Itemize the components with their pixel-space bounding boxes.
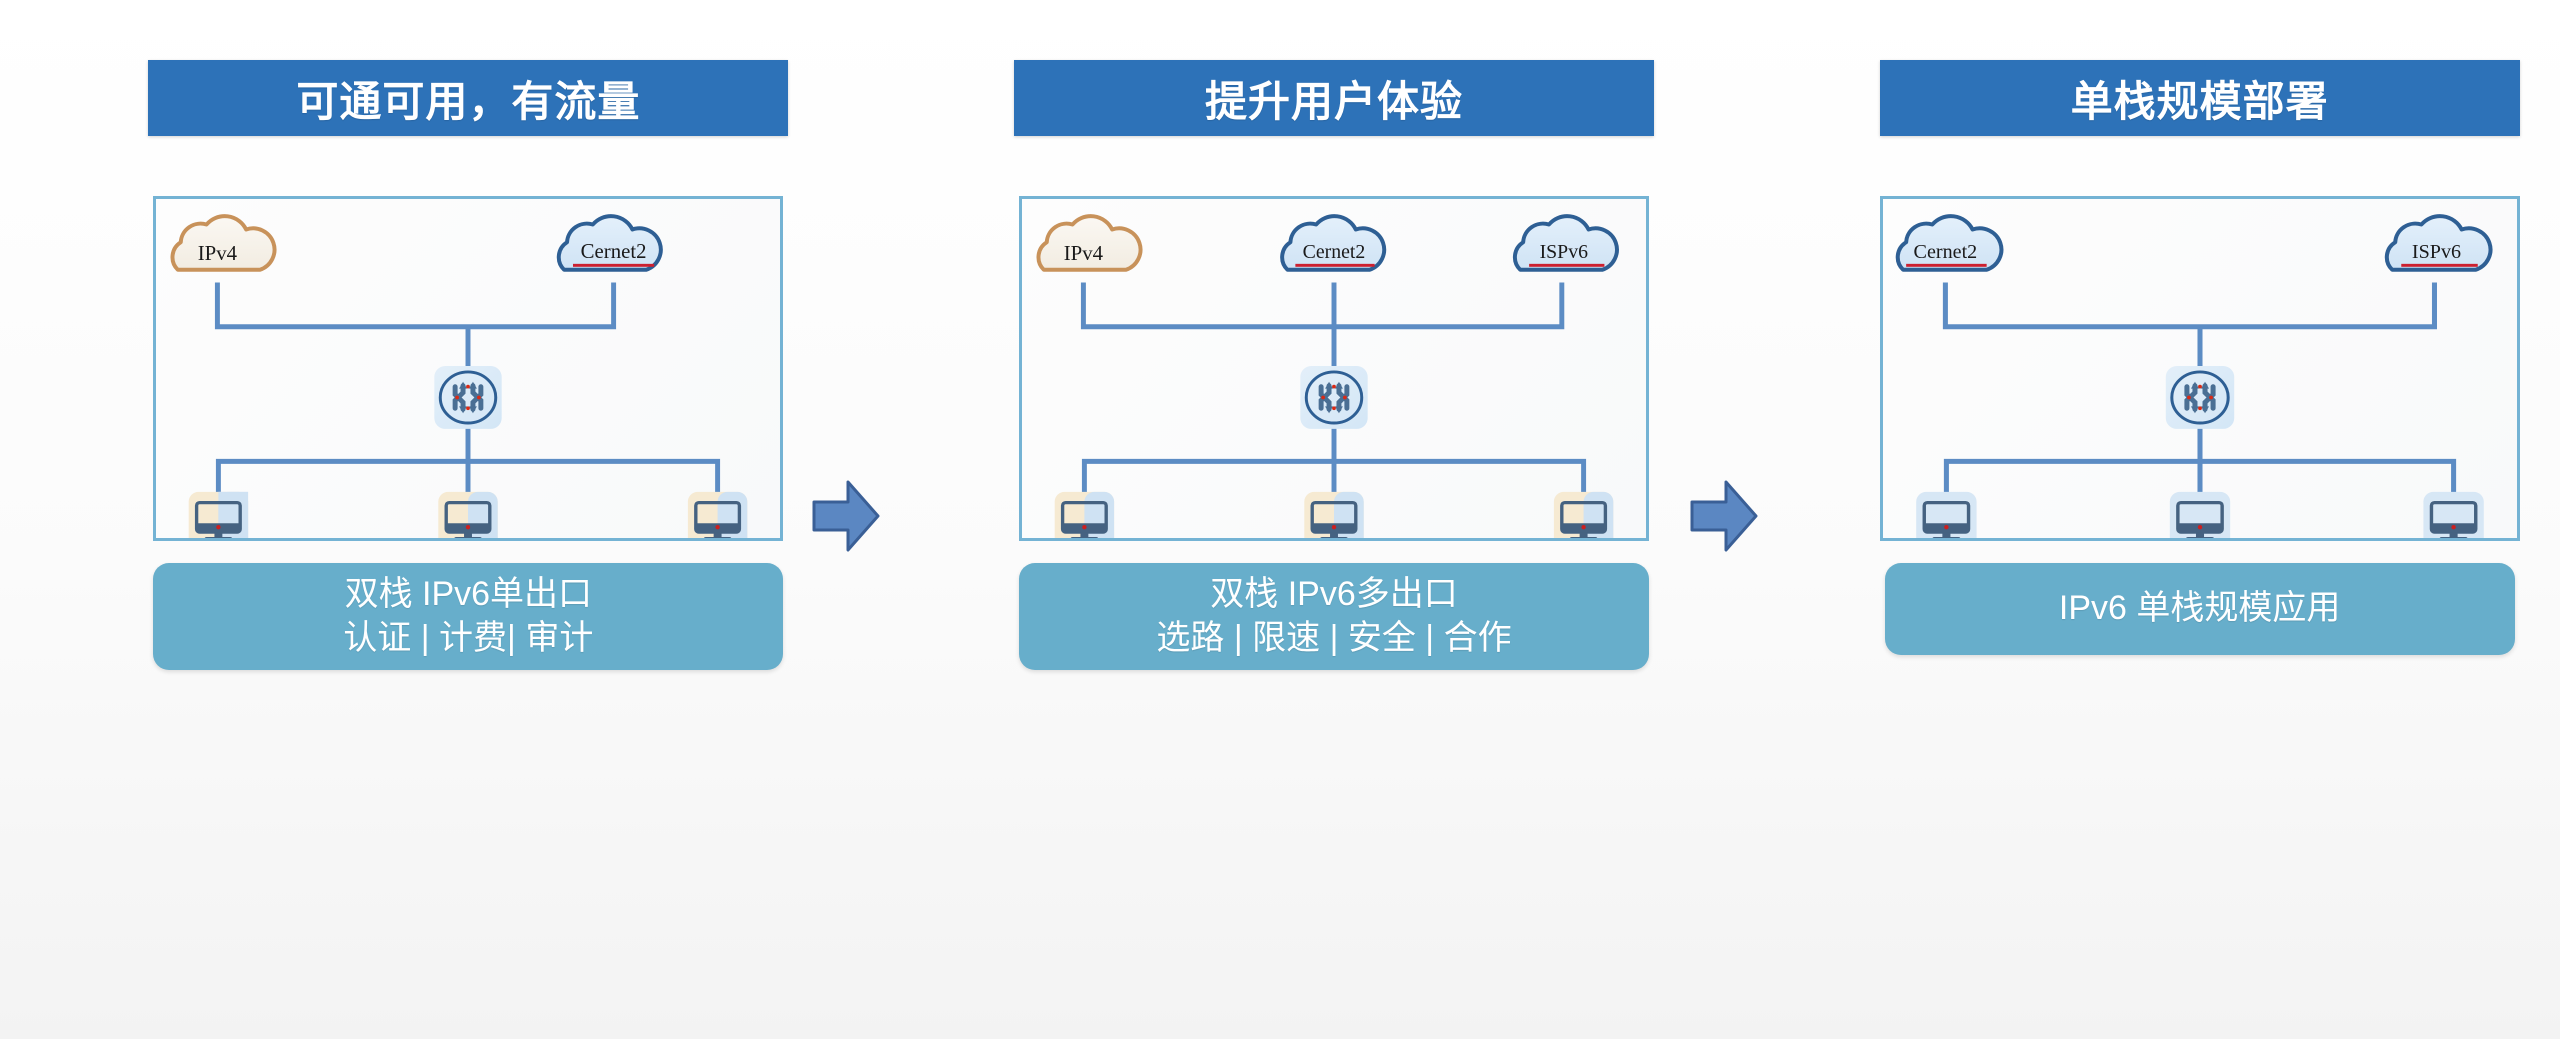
svg-text:IPv4: IPv4 (1064, 243, 1104, 265)
stage-1-caption-line-1: 双栈 IPv6单出口 (345, 573, 592, 617)
svg-text:ISPv6: ISPv6 (2412, 241, 2461, 263)
stage-2: 提升用户体验 IPv4 Cern (974, 60, 1695, 670)
stage-1: 可通可用，有流量 (108, 60, 829, 670)
stage-3-topology-panel: Cernet2 ISPv6 (1880, 196, 2520, 541)
stage-3-caption: IPv6 单栈规模应用 (1885, 563, 2515, 655)
stage-3: 单栈规模部署 Cernet2 (1839, 60, 2560, 655)
stage-2-host-2 (1304, 492, 1363, 538)
stage-3-host-2 (2169, 492, 2229, 538)
stage-2-header-title: 提升用户体验 (1205, 68, 1463, 129)
right-arrow-icon (810, 478, 882, 554)
stage-2-cloud-cernet2: Cernet2 (1282, 216, 1384, 270)
stage-2-header-bar: 提升用户体验 (1014, 60, 1654, 136)
stage-1-host-3 (688, 492, 747, 538)
svg-text:Cernet2: Cernet2 (1913, 241, 1977, 263)
svg-text:ISPv6: ISPv6 (1540, 241, 1589, 263)
stage-2-caption: 双栈 IPv6多出口 选路 | 限速 | 安全 | 合作 (1019, 563, 1649, 670)
stage-1-caption-line-2: 认证 | 计费| 审计 (343, 617, 593, 661)
stage-1-host-1 (189, 492, 248, 538)
stage-3-header-title: 单栈规模部署 (2071, 68, 2329, 129)
stage-2-cloud-ipv4: IPv4 (1038, 216, 1140, 270)
stage-3-router (2165, 366, 2233, 429)
stage-1-router (435, 366, 502, 429)
stage-3-header-bar: 单栈规模部署 (1880, 60, 2520, 136)
stage-3-topology-svg: Cernet2 ISPv6 (1883, 199, 2517, 538)
stage-1-topology-svg: IPv4 Cernet2 (156, 199, 780, 538)
stage-3-cloud-ispv6: ISPv6 (2387, 216, 2491, 270)
stage-3-host-3 (2423, 492, 2483, 538)
stage-2-cloud-ispv6: ISPv6 (1515, 216, 1617, 270)
stage-1-cloud-cernet2: Cernet2 (559, 216, 661, 270)
stage-1-topology-panel: IPv4 Cernet2 (153, 196, 783, 541)
evolution-diagram: 可通可用，有流量 (0, 0, 2560, 1039)
svg-text:Cernet2: Cernet2 (1303, 241, 1366, 263)
stage-2-host-3 (1554, 492, 1613, 538)
stage-2-caption-line-2: 选路 | 限速 | 安全 | 合作 (1156, 617, 1511, 661)
svg-text:IPv4: IPv4 (198, 243, 238, 265)
stage-2-topology-svg: IPv4 Cernet2 ISPv6 (1022, 199, 1646, 538)
stage-1-caption: 双栈 IPv6单出口 认证 | 计费| 审计 (153, 563, 783, 670)
stage-1-host-2 (439, 492, 498, 538)
stage-2-host-1 (1055, 492, 1114, 538)
svg-text:Cernet2: Cernet2 (581, 241, 647, 263)
stage-1-cloud-ipv4: IPv4 (173, 216, 275, 270)
stage-3-cloud-cernet2: Cernet2 (1897, 216, 2001, 270)
stage-1-header-title: 可通可用，有流量 (296, 68, 640, 129)
stage-2-caption-line-1: 双栈 IPv6多出口 (1210, 573, 1457, 617)
stage-1-header-bar: 可通可用，有流量 (148, 60, 788, 136)
stage-3-caption-line-1: IPv6 单栈规模应用 (2059, 587, 2340, 631)
stage-3-host-1 (1916, 492, 1976, 538)
right-arrow-icon (1688, 478, 1760, 554)
stage-2-topology-panel: IPv4 Cernet2 ISPv6 (1019, 196, 1649, 541)
stage-2-router (1300, 366, 1367, 429)
